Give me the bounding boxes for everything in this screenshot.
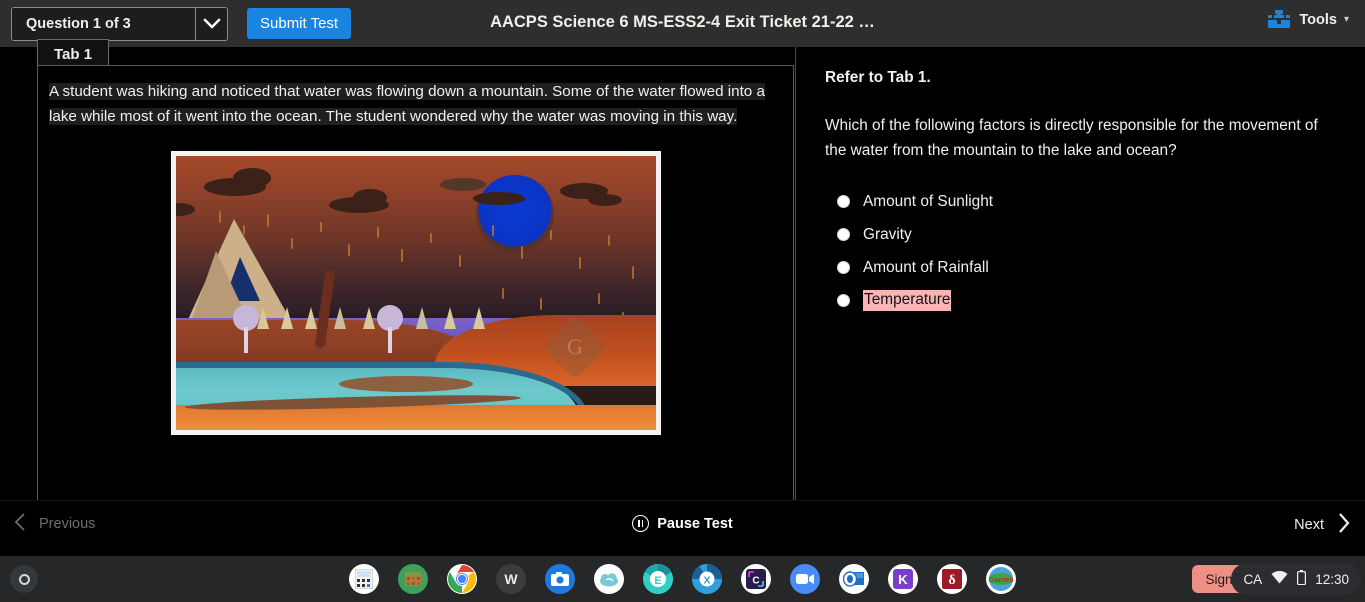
- clever-app-icon[interactable]: C: [741, 564, 771, 594]
- raindrop: [377, 227, 379, 238]
- tree-shape: [305, 307, 317, 329]
- radio-button[interactable]: [837, 195, 850, 208]
- tree-shape: [334, 307, 346, 329]
- raindrop: [502, 288, 504, 299]
- tree-shape: [444, 307, 456, 329]
- chevron-right-icon: [1337, 512, 1351, 538]
- wifi-icon: [1271, 571, 1288, 587]
- kahoot-app-icon[interactable]: K: [888, 564, 918, 594]
- answer-choice-b[interactable]: Gravity: [825, 218, 1335, 251]
- svg-text:K: K: [898, 572, 908, 587]
- chevron-down-icon[interactable]: ▾: [1344, 15, 1349, 25]
- stimulus-pane: Tab 1 A student was hiking and noticed t…: [0, 47, 796, 500]
- raindrop: [401, 249, 403, 262]
- next-label: Next: [1294, 517, 1324, 533]
- battery-icon: [1297, 570, 1306, 588]
- answer-choice-label-highlighted: Temperature: [863, 290, 951, 311]
- svg-text:δ: δ: [948, 573, 955, 588]
- raindrop: [550, 230, 552, 240]
- shelf-app-list: W E X C: [0, 564, 1365, 594]
- minecraft-app-icon[interactable]: [398, 564, 428, 594]
- svg-text:Games: Games: [988, 575, 1013, 584]
- zoom-app-icon[interactable]: [790, 564, 820, 594]
- submit-test-button[interactable]: Submit Test: [247, 8, 351, 39]
- radio-button[interactable]: [837, 228, 850, 241]
- raindrop: [430, 233, 432, 243]
- answer-choice-d[interactable]: Temperature: [825, 284, 1335, 317]
- passage-highlight: A student was hiking and noticed that wa…: [49, 83, 765, 125]
- sun-disk-icon: [476, 175, 554, 253]
- raindrop: [492, 225, 494, 236]
- edulastic-app-icon[interactable]: E: [643, 564, 673, 594]
- system-status-tray[interactable]: CA 12:30: [1231, 563, 1361, 595]
- figure-watermark-letter: G: [567, 334, 583, 360]
- passage-text: A student was hiking and noticed that wa…: [49, 79, 782, 129]
- os-shelf: W E X C: [0, 556, 1365, 602]
- outlook-app-icon[interactable]: [839, 564, 869, 594]
- camera-app-icon[interactable]: [545, 564, 575, 594]
- clock-label: 12:30: [1315, 572, 1349, 587]
- answer-choice-label: Amount of Rainfall: [863, 259, 989, 277]
- question-selector[interactable]: Question 1 of 3: [11, 7, 228, 41]
- water-cycle-landscape-illustration: G: [171, 151, 661, 435]
- tree-shape: [416, 307, 428, 329]
- raindrop: [348, 244, 350, 256]
- locale-label: CA: [1243, 572, 1262, 587]
- answer-choice-a[interactable]: Amount of Sunlight: [825, 185, 1335, 218]
- cloud-app-icon[interactable]: [594, 564, 624, 594]
- driftwood-shape: [339, 376, 473, 392]
- pause-circle-icon: [632, 515, 649, 532]
- tree-shape: [473, 307, 485, 329]
- raindrop: [459, 255, 461, 267]
- delta-math-app-icon[interactable]: δ: [937, 564, 967, 594]
- main-content: Tab 1 A student was hiking and noticed t…: [0, 47, 1365, 500]
- raindrop: [540, 298, 542, 310]
- radio-button[interactable]: [837, 261, 850, 274]
- raindrop: [598, 293, 600, 304]
- test-app-screen: Question 1 of 3 Submit Test AACPS Scienc…: [0, 0, 1365, 602]
- figure-wrapper: G: [38, 151, 793, 435]
- stimulus-content-box: A student was hiking and noticed that wa…: [37, 65, 794, 500]
- answer-choices: Amount of Sunlight Gravity Amount of Rai…: [825, 185, 1335, 317]
- refer-instruction: Refer to Tab 1.: [825, 69, 1335, 87]
- pause-label: Pause Test: [657, 516, 733, 532]
- radio-button[interactable]: [837, 294, 850, 307]
- svg-text:E: E: [654, 575, 661, 587]
- next-button[interactable]: Next: [1294, 512, 1351, 538]
- tree-shape: [363, 307, 375, 329]
- toolbox-icon: [1266, 8, 1292, 32]
- raindrop: [608, 235, 610, 246]
- question-pane: Refer to Tab 1. Which of the following f…: [797, 47, 1365, 500]
- calculator-app-icon[interactable]: [349, 564, 379, 594]
- chevron-down-icon[interactable]: [195, 8, 227, 40]
- svg-text:X: X: [703, 575, 710, 587]
- question-selector-label: Question 1 of 3: [12, 8, 195, 40]
- pause-test-button[interactable]: Pause Test: [0, 515, 1365, 532]
- answer-choice-c[interactable]: Amount of Rainfall: [825, 251, 1335, 284]
- answer-choice-label: Amount of Sunlight: [863, 193, 993, 211]
- answer-choice-label: Gravity: [863, 226, 912, 244]
- cloud-shape: [353, 189, 387, 206]
- wordtune-app-icon[interactable]: W: [496, 564, 526, 594]
- raindrop: [521, 246, 523, 259]
- xtramath-app-icon[interactable]: X: [692, 564, 722, 594]
- chrome-app-icon[interactable]: [447, 564, 477, 594]
- games-app-icon[interactable]: Games: [986, 564, 1016, 594]
- tree-shape: [281, 307, 293, 329]
- raindrop: [579, 257, 581, 269]
- app-header: Question 1 of 3 Submit Test AACPS Scienc…: [0, 0, 1365, 47]
- svg-text:C: C: [752, 576, 759, 587]
- test-navigation-bar: Previous Pause Test Next: [0, 500, 1365, 556]
- cloud-shape: [473, 192, 525, 205]
- cloud-shape: [440, 178, 486, 191]
- tools-menu[interactable]: Tools ▾: [1266, 8, 1349, 32]
- raindrop: [632, 266, 634, 279]
- tools-label: Tools: [1299, 12, 1337, 28]
- question-stem: Which of the following factors is direct…: [825, 113, 1335, 163]
- raindrop: [320, 222, 322, 232]
